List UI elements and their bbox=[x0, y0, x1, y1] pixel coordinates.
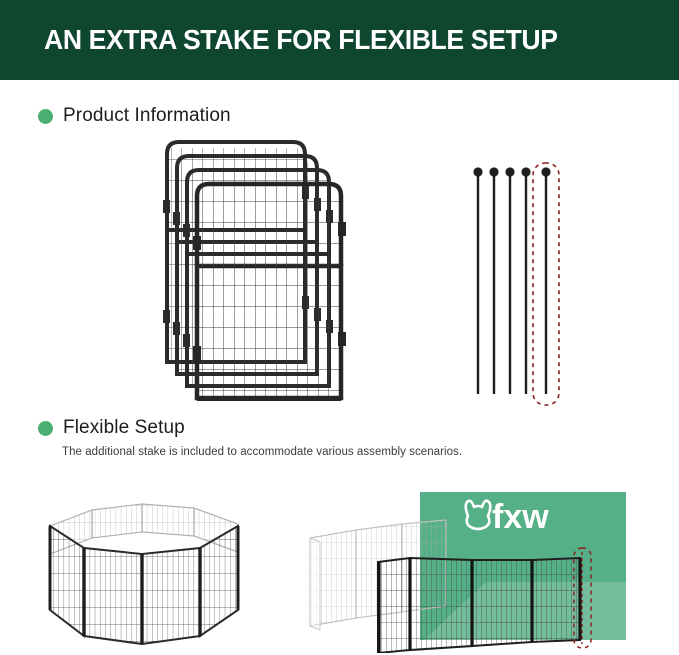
logo-text: fxw bbox=[492, 498, 549, 536]
stake-3 bbox=[505, 167, 514, 394]
octagonal-playpen-illustration bbox=[22, 488, 292, 648]
fence-panel-front bbox=[177, 184, 346, 401]
green-dot-icon bbox=[38, 421, 53, 436]
page-title: AN EXTRA STAKE FOR FLEXIBLE SETUP bbox=[44, 24, 558, 56]
header-banner: AN EXTRA STAKE FOR FLEXIBLE SETUP bbox=[0, 0, 679, 80]
scene-panels-front bbox=[378, 558, 580, 653]
stake-1 bbox=[473, 167, 482, 394]
stake-4 bbox=[521, 167, 530, 394]
octagonal-playpen-svg bbox=[22, 488, 292, 648]
ground-stakes-illustration bbox=[462, 160, 572, 408]
flexible-setup-scene-svg: fxw bbox=[296, 478, 626, 653]
flexible-setup-scene-illustration: fxw bbox=[296, 478, 626, 653]
green-dot-icon bbox=[38, 109, 53, 124]
section-heading-label: Flexible Setup bbox=[63, 417, 185, 439]
stake-2 bbox=[489, 167, 498, 394]
section-heading-label: Product Information bbox=[63, 105, 231, 127]
stacked-fence-panels-illustration bbox=[150, 138, 390, 410]
stacked-fence-panels-svg bbox=[150, 138, 390, 410]
playpen-panels-front bbox=[50, 526, 238, 644]
section-subtitle: The additional stake is included to acco… bbox=[62, 446, 462, 458]
section-heading-product-information: Product Information bbox=[38, 105, 231, 127]
ground-stakes-svg bbox=[462, 160, 572, 408]
section-heading-flexible-setup: Flexible Setup bbox=[38, 417, 185, 439]
stake-5-extra bbox=[541, 167, 550, 394]
